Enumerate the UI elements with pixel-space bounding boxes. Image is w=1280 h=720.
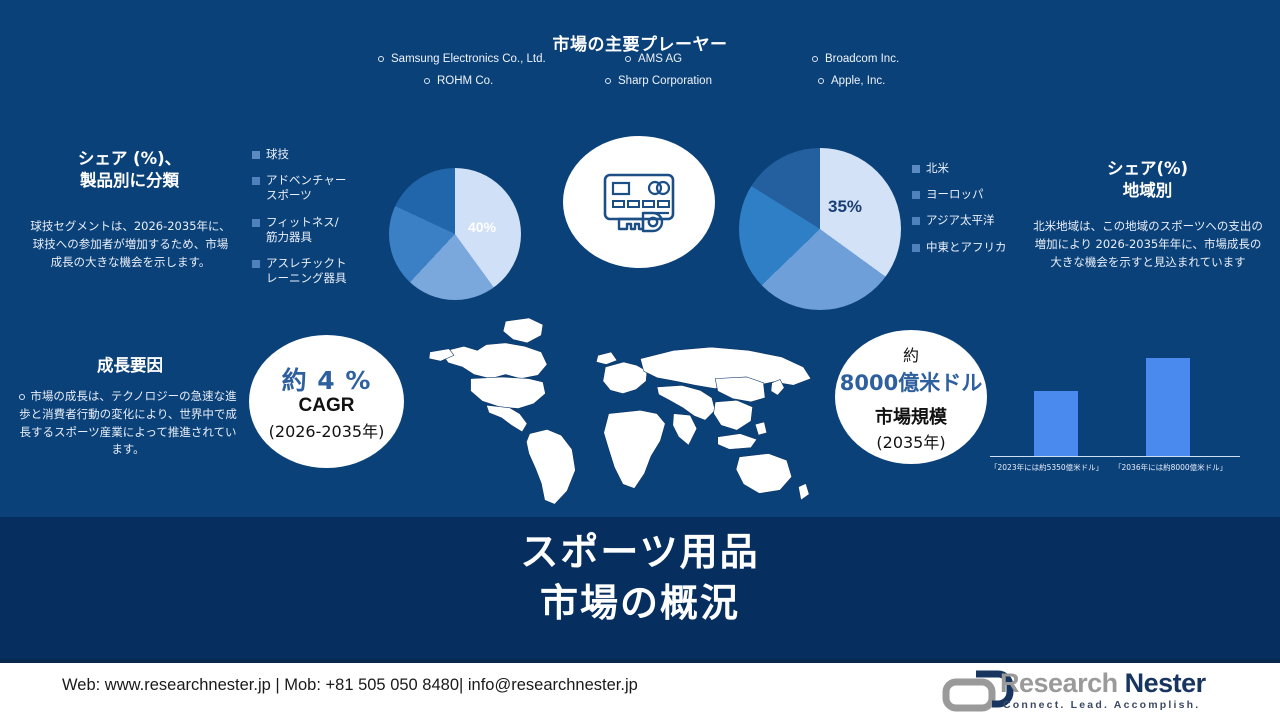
footer-contact[interactable]: Web: www.researchnester.jp | Mob: +81 50…	[62, 676, 638, 695]
market-size-value: 8000億米ドル	[840, 367, 982, 397]
regional-share-title-line2: 地域別	[1040, 180, 1255, 202]
key-player-label: Sharp Corporation	[618, 75, 712, 87]
bullet-icon	[605, 78, 611, 84]
growth-drivers-title: 成長要因	[30, 355, 230, 377]
key-player-label: Apple, Inc.	[831, 75, 885, 87]
regional-share-title: シェア(%) 地域別	[1040, 158, 1255, 203]
bar-2023	[1034, 391, 1078, 456]
legend-swatch-icon	[912, 191, 920, 199]
bar-2036	[1146, 358, 1190, 456]
legend-swatch-icon	[252, 219, 260, 227]
market-size-approx: 約	[903, 342, 919, 366]
bar-label-2036: 「2036年には約8000億米ドル」	[1114, 462, 1227, 473]
key-player-item: Apple, Inc.	[818, 75, 885, 87]
bullet-icon	[818, 78, 824, 84]
product-share-title: シェア (%)、 製品別に分類	[22, 148, 237, 193]
market-size-label: 市場規模	[875, 403, 947, 429]
legend-swatch-icon	[912, 244, 920, 252]
legend-swatch-icon	[912, 165, 920, 173]
legend-item: アドベンチャースポーツ	[252, 173, 350, 203]
bar-chart-axis	[990, 456, 1240, 458]
product-share-title-line2: 製品別に分類	[22, 170, 237, 192]
legend-item: 北米	[912, 161, 1008, 176]
regional-pie-legend: 北米 ヨーロッパ アジア太平洋 中東とアフリカ	[912, 161, 1008, 266]
product-share-description: 球技セグメントは、2026-2035年に、球技への参加者が増加するため、市場成長…	[28, 218, 233, 271]
regional-share-title-line1: シェア(%)	[1040, 158, 1255, 180]
world-map	[424, 312, 840, 516]
footer-divider	[0, 659, 1280, 663]
cagr-label: CAGR	[299, 395, 355, 417]
cagr-value: 約 4 %	[282, 361, 372, 397]
legend-item: アジア太平洋	[912, 213, 1008, 228]
key-player-label: Broadcom Inc.	[825, 53, 899, 65]
growth-drivers-text: 市場の成長は、テクノロジーの急速な進歩と消費者行動の変化により、世界中で成長する…	[19, 389, 237, 456]
logo-primary-text: Research	[1000, 668, 1118, 698]
legend-label: 北米	[926, 161, 949, 176]
world-map-svg	[424, 312, 840, 516]
key-player-item: ROHM Co.	[424, 75, 493, 87]
legend-label: アジア太平洋	[926, 213, 995, 228]
key-player-item: AMS AG	[625, 53, 682, 65]
legend-swatch-icon	[252, 177, 260, 185]
key-player-label: ROHM Co.	[437, 75, 493, 87]
regional-pie-value-label: 35%	[828, 197, 862, 217]
legend-label: アドベンチャースポーツ	[266, 173, 350, 203]
page-title: スポーツ用品 市場の概況	[0, 527, 1280, 628]
bullet-icon	[424, 78, 430, 84]
product-pie-value-label: 40%	[468, 219, 496, 235]
cagr-stat-circle: 約 4 % CAGR (2026-2035年)	[249, 335, 404, 468]
page-title-line2: 市場の概況	[0, 578, 1280, 629]
legend-swatch-icon	[252, 260, 260, 268]
regional-share-pie-chart	[739, 148, 901, 310]
legend-item: 球技	[252, 147, 350, 162]
market-size-stat-circle: 約 8000億米ドル 市場規模 (2035年)	[835, 330, 987, 464]
research-nester-logo-text: Research Nester	[1000, 668, 1206, 699]
legend-item: ヨーロッパ	[912, 187, 1008, 202]
market-size-period: (2035年)	[876, 429, 945, 453]
regional-share-description: 北米地域は、この地域のスポーツへの支出の増加により 2026-2035年年に、市…	[1032, 218, 1264, 271]
legend-label: アスレチックトレーニング器具	[266, 256, 350, 286]
logo-secondary-text: Nester	[1125, 668, 1206, 698]
credit-card-key-icon	[597, 169, 681, 235]
product-pie-legend: 球技 アドベンチャースポーツ フィットネス/筋力器具 アスレチックトレーニング器…	[252, 147, 350, 297]
key-player-item: Sharp Corporation	[605, 75, 712, 87]
bullet-icon	[19, 394, 25, 400]
legend-label: 中東とアフリカ	[926, 240, 1007, 255]
center-icon-circle	[563, 136, 715, 268]
product-share-pie-chart	[389, 168, 521, 300]
market-size-bar-chart: 「2023年には約5350億米ドル」 「2036年には約8000億米ドル」	[990, 358, 1240, 473]
key-players-title: 市場の主要プレーヤー	[440, 30, 840, 55]
legend-swatch-icon	[912, 217, 920, 225]
key-player-label: Samsung Electronics Co., Ltd.	[391, 53, 546, 65]
bullet-icon	[812, 56, 818, 62]
legend-item: アスレチックトレーニング器具	[252, 256, 350, 286]
legend-label: 球技	[266, 147, 289, 162]
legend-item: フィットネス/筋力器具	[252, 215, 350, 245]
product-share-title-line1: シェア (%)、	[22, 148, 237, 170]
infographic-canvas: 市場の主要プレーヤー Samsung Electronics Co., Ltd.…	[0, 0, 1280, 720]
page-title-line1: スポーツ用品	[0, 527, 1280, 578]
growth-drivers-description: 市場の成長は、テクノロジーの急速な進歩と消費者行動の変化により、世界中で成長する…	[14, 388, 242, 459]
cagr-period: (2026-2035年)	[269, 418, 385, 442]
logo-tagline: Connect. Lead. Accomplish.	[1003, 699, 1200, 711]
bullet-icon	[625, 56, 631, 62]
bar-label-2023: 「2023年には約5350億米ドル」	[990, 462, 1103, 473]
key-player-label: AMS AG	[638, 53, 682, 65]
legend-item: 中東とアフリカ	[912, 240, 1008, 255]
legend-label: ヨーロッパ	[926, 187, 984, 202]
bullet-icon	[378, 56, 384, 62]
legend-swatch-icon	[252, 151, 260, 159]
key-player-item: Broadcom Inc.	[812, 53, 899, 65]
key-player-item: Samsung Electronics Co., Ltd.	[378, 53, 546, 65]
legend-label: フィットネス/筋力器具	[266, 215, 350, 245]
